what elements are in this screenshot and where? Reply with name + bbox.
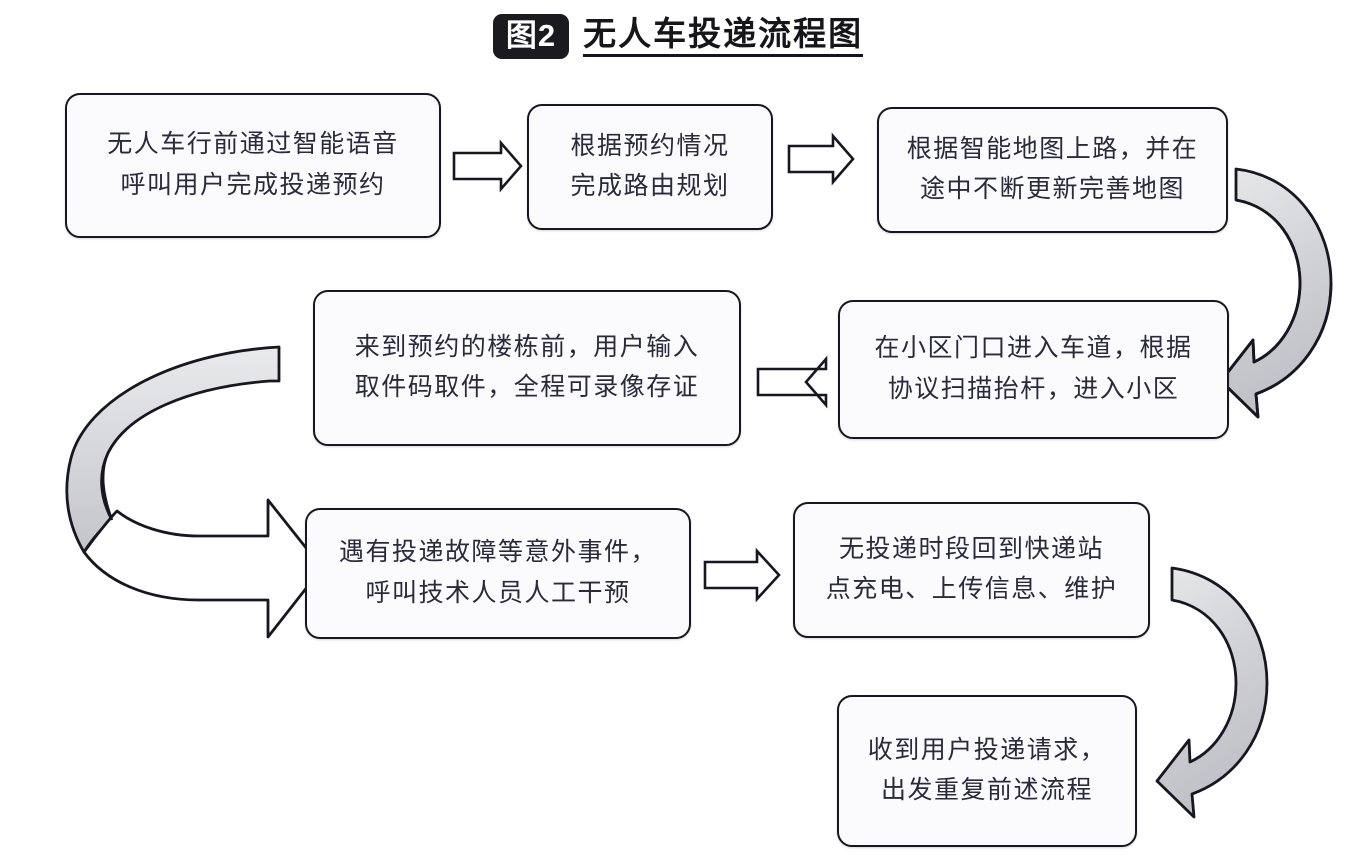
flow-node-5-line-2: 取件码取件，全程可录像存证 [355,368,700,409]
flow-node-5-line-1: 来到预约的楼栋前，用户输入 [355,328,700,369]
flow-node-1-line-1: 无人车行前通过智能语音 [107,125,399,166]
arrow-node6-to-node7 [705,551,779,599]
flow-node-1[interactable]: 无人车行前通过智能语音 呼叫用户完成投递预约 [65,93,441,238]
flow-node-4-line-1: 在小区门口进入车道，根据 [874,329,1192,370]
flow-node-8[interactable]: 收到用户投递请求， 出发重复前述流程 [837,695,1137,847]
flow-node-4[interactable]: 在小区门口进入车道，根据 协议扫描抬杆，进入小区 [838,300,1229,439]
flow-node-7[interactable]: 无投递时段回到快递站 点充电、上传信息、维护 [793,502,1150,638]
flow-node-6-line-1: 遇有投递故障等意外事件， [339,533,657,574]
flow-node-3[interactable]: 根据智能地图上路，并在 途中不断更新完善地图 [877,107,1228,233]
flow-node-7-line-1: 无投递时段回到快递站 [839,530,1104,571]
arrow-node3-to-node4-uturn [1216,169,1333,419]
arrow-node2-to-node3 [789,136,853,182]
flow-node-2-line-1: 根据预约情况 [570,127,729,168]
flow-node-2[interactable]: 根据预约情况 完成路由规划 [527,104,773,230]
flow-node-3-line-1: 根据智能地图上路，并在 [907,130,1199,171]
arrow-node4-to-node5 [758,359,826,405]
flow-node-2-line-2: 完成路由规划 [570,167,729,208]
flow-node-7-line-2: 点充电、上传信息、维护 [826,570,1118,611]
flow-node-8-line-2: 出发重复前述流程 [881,771,1093,812]
flow-node-6-line-2: 呼叫技术人员人工干预 [365,574,630,615]
flow-node-3-line-2: 途中不断更新完善地图 [920,170,1185,211]
arrow-node5-to-node6-uturn [60,347,322,637]
arrow-node7-to-node8-uturn [1157,568,1267,817]
flow-node-8-line-1: 收到用户投递请求， [868,731,1107,772]
flow-node-5[interactable]: 来到预约的楼栋前，用户输入 取件码取件，全程可录像存证 [313,290,741,446]
flow-node-6[interactable]: 遇有投递故障等意外事件， 呼叫技术人员人工干预 [305,508,691,639]
arrow-node1-to-node2 [454,143,521,189]
flow-node-4-line-2: 协议扫描抬杆，进入小区 [888,370,1180,411]
flow-node-1-line-2: 呼叫用户完成投递预约 [120,166,385,207]
